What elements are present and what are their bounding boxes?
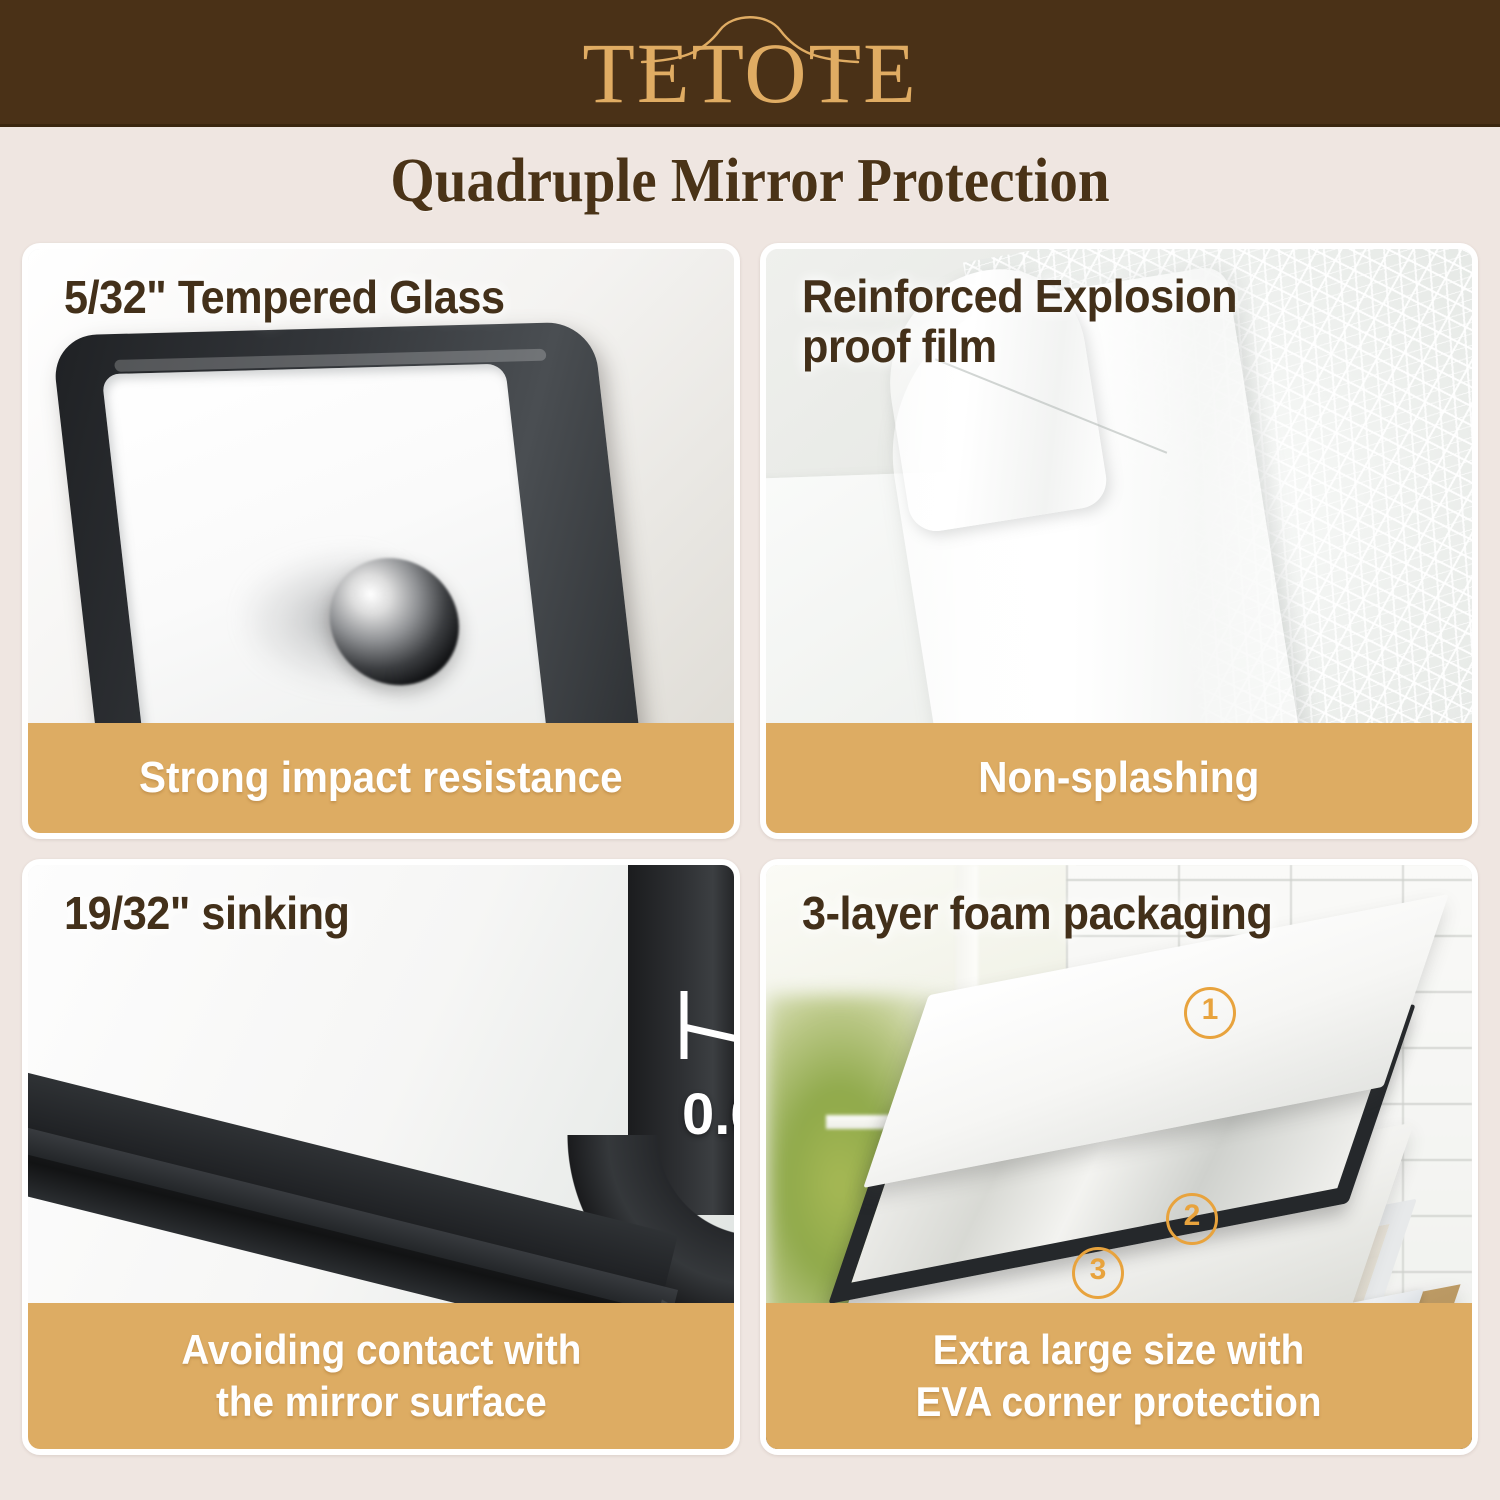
panel-explosion-proof-film: Reinforced Explosion proof film Non-spla… — [760, 243, 1478, 839]
dimension-label: 0.6” — [682, 1085, 734, 1145]
caption-text-foam-packaging: Extra large size with EVA corner protect… — [916, 1324, 1322, 1428]
brand-logo: TETOTE — [0, 8, 1500, 118]
caption-text-explosion-proof-film: Non-splashing — [978, 754, 1259, 802]
feature-grid: 5/32" Tempered Glass Strong impact resis… — [22, 243, 1478, 1449]
panel-sinking-frame: 0.6” 19/32" sinking Avoiding contact wit… — [22, 859, 740, 1455]
caption-text-tempered-glass: Strong impact resistance — [139, 754, 623, 802]
badge-2: 2 — [1166, 1193, 1218, 1245]
logo-wordmark: TETOTE — [580, 30, 920, 116]
caption-bar-sinking-frame: Avoiding contact with the mirror surface — [28, 1303, 734, 1449]
panel-heading-tempered-glass: 5/32" Tempered Glass — [64, 271, 660, 323]
caption-bar-tempered-glass: Strong impact resistance — [28, 723, 734, 833]
caption-bar-explosion-proof-film: Non-splashing — [766, 723, 1472, 833]
panel-tempered-glass: 5/32" Tempered Glass Strong impact resis… — [22, 243, 740, 839]
panel-heading-explosion-proof-film: Reinforced Explosion proof film — [802, 271, 1398, 371]
caption-text-sinking-frame: Avoiding contact with the mirror surface — [181, 1324, 581, 1428]
page-title: Quadruple Mirror Protection — [60, 146, 1440, 216]
caption-bar-foam-packaging: Extra large size with EVA corner protect… — [766, 1303, 1472, 1449]
infographic-page: TETOTE Quadruple Mirror Protection 5/32"… — [0, 0, 1500, 1500]
badge-1: 1 — [1184, 987, 1236, 1039]
panel-heading-foam-packaging: 3-layer foam packaging — [802, 887, 1398, 939]
badge-3: 3 — [1072, 1247, 1124, 1299]
panel-foam-packaging: 1 2 3 3-layer foam packaging Extra large… — [760, 859, 1478, 1455]
brand-banner: TETOTE — [0, 0, 1500, 127]
panel-heading-sinking-frame: 19/32" sinking — [64, 887, 660, 939]
